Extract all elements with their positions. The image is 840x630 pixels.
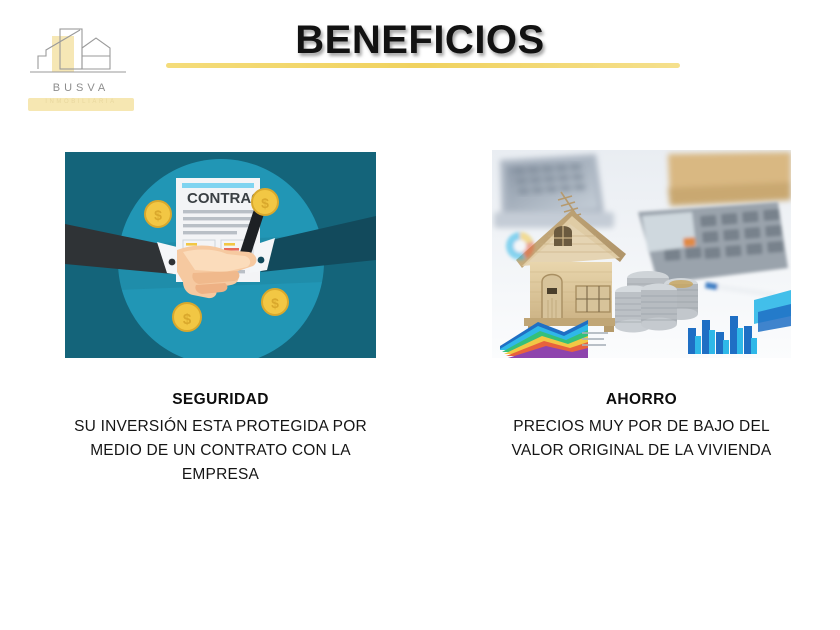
attic-window (554, 226, 572, 246)
coin-icon-top-right: $ (252, 189, 278, 215)
benefit-card-ahorro: AHORRO PRECIOS MUY POR DE BAJO DEL VALOR… (492, 150, 791, 463)
svg-text:$: $ (271, 295, 279, 311)
coin-icon-bottom-left: $ (173, 303, 201, 331)
page-title: BENEFICIOS (0, 18, 840, 63)
benefit-title: SEGURIDAD (65, 388, 376, 411)
wood-board-blurred (668, 152, 791, 206)
handshake-contract-svg: CONTRACT (65, 152, 376, 358)
svg-text:$: $ (154, 207, 162, 223)
benefit-body: PRECIOS MUY POR DE BAJO DEL VALOR ORIGIN… (492, 415, 791, 463)
svg-text:$: $ (261, 195, 269, 211)
handshake-contract-illustration: CONTRACT (65, 152, 376, 358)
benefit-caption-ahorro: AHORRO PRECIOS MUY POR DE BAJO DEL VALOR… (492, 388, 791, 463)
benefit-caption-seguridad: SEGURIDAD SU INVERSIÓN ESTA PROTEGIDA PO… (65, 388, 376, 487)
title-underline-rule (166, 63, 680, 68)
house-model-coins-photo (492, 150, 791, 358)
coin-icon-bottom-right: $ (262, 289, 288, 315)
keyboard-keys (514, 164, 585, 194)
house-door (542, 275, 562, 321)
benefit-card-seguridad: CONTRACT (65, 152, 376, 487)
brand-wordmark: BUSVA (22, 82, 140, 94)
brand-tagline-highlight: INMOBILIARIA (28, 98, 134, 111)
brand-tagline: INMOBILIARIA (28, 99, 134, 105)
svg-text:$: $ (183, 311, 192, 328)
benefit-title: AHORRO (492, 388, 791, 411)
house-window (576, 286, 610, 312)
chart-pie-faint (506, 232, 534, 260)
coin-icon-top-left: $ (145, 201, 171, 227)
house-model-coins-svg (492, 150, 791, 358)
benefit-body: SU INVERSIÓN ESTA PROTEGIDA POR MEDIO DE… (65, 415, 376, 487)
coin-stack-middle (641, 284, 677, 331)
